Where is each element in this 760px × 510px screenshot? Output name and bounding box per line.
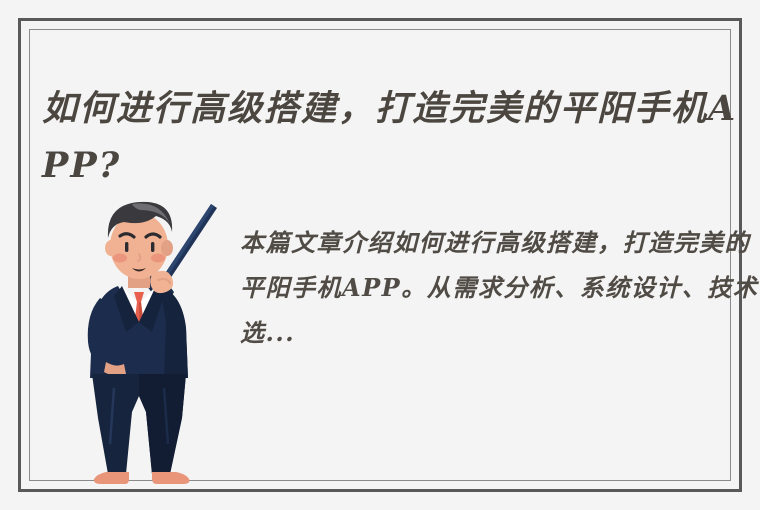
article-card: 如何进行高级搭建，打造完美的平阳手机APP?	[18, 18, 742, 492]
businessman-with-pointer-illustration	[78, 182, 238, 494]
article-summary: 本篇文章介绍如何进行高级搭建，打造完美的平阳手机APP。从需求分析、系统设计、技…	[240, 220, 760, 355]
page-title: 如何进行高级搭建，打造完美的平阳手机APP?	[42, 80, 747, 194]
inner-frame-border: 如何进行高级搭建，打造完美的平阳手机APP?	[29, 29, 731, 481]
article-body: 本篇文章介绍如何进行高级搭建，打造完美的平阳手机APP。从需求分析、系统设计、技…	[30, 182, 730, 482]
